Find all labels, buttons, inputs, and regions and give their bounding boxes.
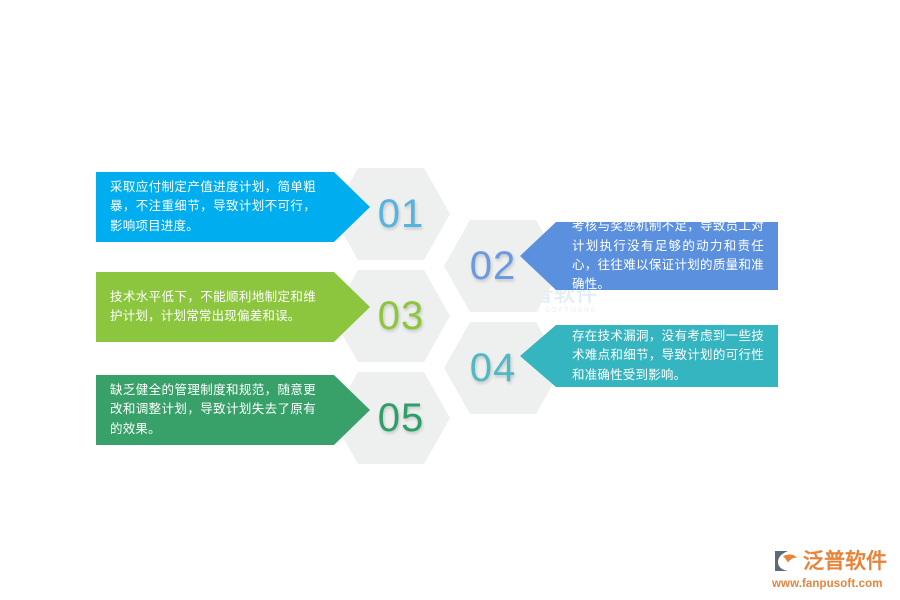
- panel-text-01: 采取应付制定产值进度计划，简单粗暴，不注重细节，导致计划不可行，影响项目进度。: [110, 178, 316, 236]
- panel-text-02: 考核与奖惩机制不足，导致员工对计划执行没有足够的动力和责任心，往往难以保证计划的…: [572, 217, 764, 295]
- infographic-canvas: 泛普软件 FANPU SOFTWARE 01 采取应付制定产值进度计划，简单粗暴…: [0, 0, 900, 600]
- content-bar-04[interactable]: 存在技术漏洞，没有考虑到一些技术难点和细节，导致计划的可行性和准确性受到影响。: [520, 325, 778, 387]
- panel-text-04: 存在技术漏洞，没有考虑到一些技术难点和细节，导致计划的可行性和准确性受到影响。: [572, 327, 764, 385]
- logo-url: www.fanpusoft.com: [772, 578, 892, 590]
- badge-number-05: 05: [378, 398, 425, 438]
- badge-number-04: 04: [470, 348, 517, 388]
- panel-text-05: 缺乏健全的管理制度和规范，随意更改和调整计划，导致计划失去了原有的效果。: [110, 381, 316, 439]
- badge-number-03: 03: [378, 296, 425, 336]
- logo-row: 泛普软件: [772, 548, 892, 574]
- panel-text-03: 技术水平低下，不能顺利地制定和维护计划，计划常常出现偏差和误。: [110, 288, 316, 327]
- fanpu-logo-icon: [772, 548, 800, 574]
- content-bar-01[interactable]: 采取应付制定产值进度计划，简单粗暴，不注重细节，导致计划不可行，影响项目进度。: [96, 172, 370, 242]
- content-bar-03[interactable]: 技术水平低下，不能顺利地制定和维护计划，计划常常出现偏差和误。: [96, 272, 370, 342]
- company-logo: 泛普软件 www.fanpusoft.com: [772, 545, 892, 593]
- badge-number-01: 01: [378, 194, 425, 234]
- content-bar-02[interactable]: 考核与奖惩机制不足，导致员工对计划执行没有足够的动力和责任心，往往难以保证计划的…: [520, 222, 778, 290]
- logo-company-name: 泛普软件: [803, 551, 887, 572]
- badge-number-02: 02: [470, 246, 517, 286]
- content-bar-05[interactable]: 缺乏健全的管理制度和规范，随意更改和调整计划，导致计划失去了原有的效果。: [96, 375, 370, 445]
